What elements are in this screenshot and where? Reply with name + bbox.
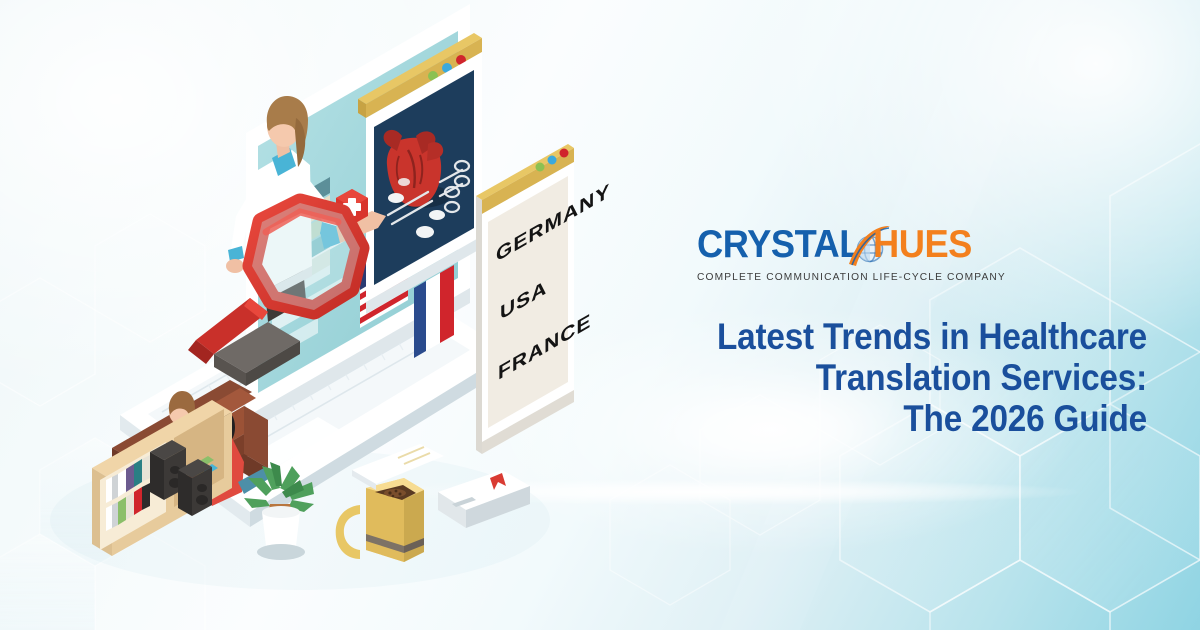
brand-logo[interactable]: CRYSTAL HUES COMPLETE COMMUNICATION LIFE… [697, 222, 997, 283]
logo-tagline: COMPLETE COMMUNICATION LIFE-CYCLE COMPAN… [697, 272, 997, 283]
headline-line-1: Latest Trends in Healthcare [709, 316, 1147, 357]
logo-text-crystal: CRYSTAL [697, 222, 861, 268]
language-document-panel: GERMANY USA FRANCE [476, 144, 610, 454]
illustration-scene: GERMANY USA FRANCE [0, 0, 660, 630]
logo-text-hues: HUES [873, 222, 972, 268]
logo-wordmark: CRYSTAL HUES [697, 222, 987, 268]
page-title: Latest Trends in Healthcare Translation … [660, 316, 1147, 439]
headline-line-3: The 2026 Guide [709, 398, 1147, 439]
banner-root: GERMANY USA FRANCE [0, 0, 1200, 630]
headline-line-2: Translation Services: [709, 357, 1147, 398]
content-column: CRYSTAL HUES COMPLETE COMMUNICATION LIFE… [660, 0, 1160, 630]
